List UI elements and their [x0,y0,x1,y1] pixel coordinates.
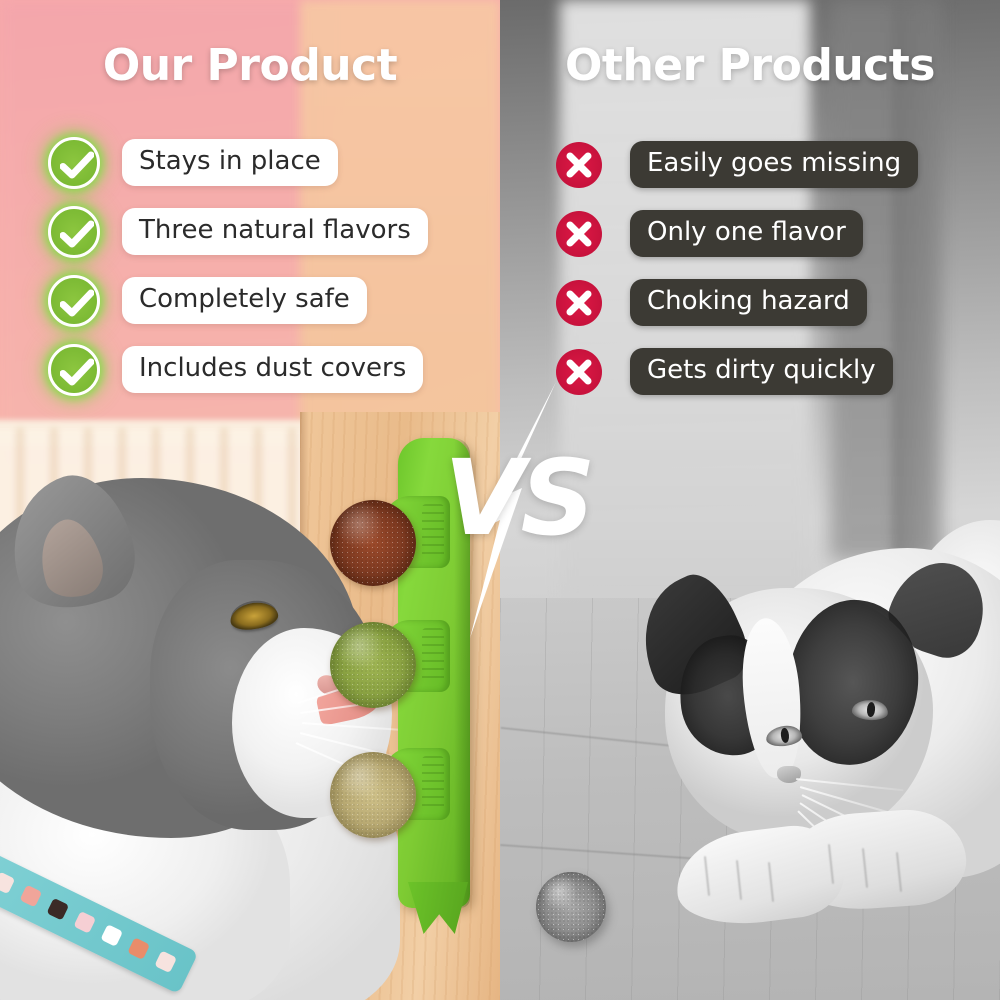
list-item[interactable]: Includes dust covers [48,335,428,404]
feature-label: Completely safe [122,277,367,323]
check-circle-icon [48,206,100,258]
drawback-label: Only one flavor [630,210,863,256]
collar-charm [127,937,150,960]
collar-charm [46,898,69,921]
right-cat-nose [777,766,801,783]
check-circle-icon [48,275,100,327]
list-item[interactable]: Choking hazard [556,268,918,337]
list-item[interactable]: Easily goes missing [556,130,918,199]
toy-bar-shadow [454,438,470,908]
our-product-feature-list: Stays in place Three natural flavors Com… [48,128,428,404]
collar-charm [154,950,177,973]
catnip-ball-tan [330,752,416,838]
list-item[interactable]: Three natural flavors [48,197,428,266]
feature-label: Three natural flavors [122,208,428,254]
x-circle-icon [556,280,602,326]
feature-label: Includes dust covers [122,346,423,392]
collar-charm [19,885,42,908]
x-circle-icon [556,211,602,257]
check-circle-icon [48,344,100,396]
x-circle-icon [556,349,602,395]
other-products-title: Other Products [500,40,1000,91]
drawback-label: Easily goes missing [630,141,918,187]
loose-catnip-ball [536,872,606,942]
list-item[interactable]: Gets dirty quickly [556,337,918,406]
x-circle-icon [556,142,602,188]
comparison-infographic: Our Product Other Products Stays in plac… [0,0,1000,1000]
list-item[interactable]: Only one flavor [556,199,918,268]
collar-charm [0,872,15,895]
list-item[interactable]: Completely safe [48,266,428,335]
other-products-feature-list: Easily goes missing Only one flavor Chok… [556,130,918,406]
collar-charm [100,924,123,947]
feature-label: Stays in place [122,139,338,185]
check-circle-icon [48,137,100,189]
catnip-ball-red [330,500,416,586]
collar-charm [73,911,96,934]
drawback-label: Gets dirty quickly [630,348,893,394]
our-product-title: Our Product [0,40,500,91]
catnip-ball-green [330,622,416,708]
list-item[interactable]: Stays in place [48,128,428,197]
drawback-label: Choking hazard [630,279,867,325]
